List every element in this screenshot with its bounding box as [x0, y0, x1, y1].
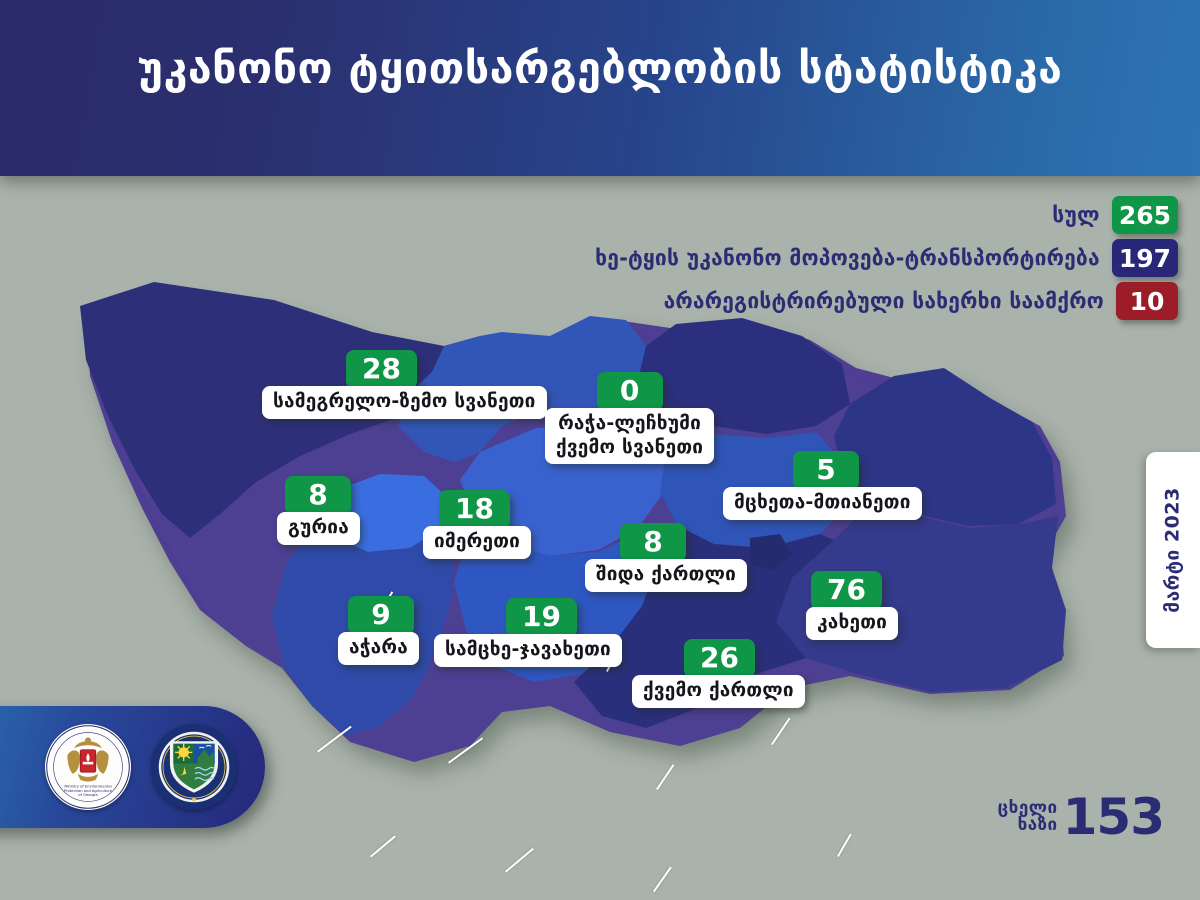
- hotline-words: ცხელი ხაზი: [998, 800, 1058, 834]
- legend-row-total: სულ 265: [595, 196, 1178, 234]
- callout-racha-lechkhumi[interactable]: 0 რაჭა-ლეჩხუმი ქვემო სვანეთი: [545, 372, 714, 464]
- infographic-root: უკანონო ტყითსარგებლობის სტატისტიკა სულ 2…: [0, 0, 1200, 900]
- legend-row-logging: ხე-ტყის უკანონო მოპოვება-ტრანსპორტირება …: [595, 239, 1178, 277]
- svg-text:Protection and Agriculture: Protection and Agriculture: [64, 789, 113, 793]
- label-samegrelo-zemo-svaneti: სამეგრელო-ზემო სვანეთი: [262, 386, 547, 418]
- legend-label-logging: ხე-ტყის უკანონო მოპოვება-ტრანსპორტირება: [595, 246, 1100, 270]
- legend-badge-total: 265: [1112, 196, 1178, 234]
- legend-badge-sawmill: 10: [1116, 282, 1178, 320]
- hotline: ცხელი ხაზი 153: [998, 794, 1164, 840]
- value-racha-lechkhumi: 0: [597, 372, 663, 411]
- callout-samtskhe-javakheti[interactable]: 19 სამცხე-ჯავახეთი: [434, 598, 622, 667]
- legend-row-sawmill: არარეგისტრირებული სახერხი საამქრო 10: [595, 282, 1178, 320]
- value-samtskhe-javakheti: 19: [506, 598, 577, 637]
- value-adjara: 9: [348, 596, 414, 635]
- label-guria: გურია: [277, 512, 360, 544]
- label-racha-lechkhumi: რაჭა-ლეჩხუმი ქვემო სვანეთი: [545, 408, 714, 463]
- department-emblem-svg: [151, 724, 237, 810]
- label-shida-kartli: შიდა ქართლი: [585, 559, 747, 591]
- header-banner: უკანონო ტყითსარგებლობის სტატისტიკა: [0, 0, 1200, 176]
- value-kvemo-kartli: 26: [684, 639, 755, 678]
- hotline-line2: ხაზი: [998, 817, 1058, 834]
- leader-line-adjara: [370, 835, 396, 857]
- date-label: მარტი 2023: [1162, 487, 1184, 612]
- department-seal-icon: [151, 724, 237, 810]
- svg-text:of Georgia: of Georgia: [78, 793, 97, 797]
- leader-line-kakheti: [837, 833, 852, 857]
- value-samegrelo-zemo-svaneti: 28: [346, 350, 417, 389]
- callout-kakheti[interactable]: 76 კახეთი: [806, 571, 898, 640]
- callout-samegrelo-zemo-svaneti[interactable]: 28 სამეგრელო-ზემო სვანეთი: [262, 350, 547, 419]
- callout-guria[interactable]: 8 გურია: [277, 476, 360, 545]
- leader-line-samtskhe: [505, 848, 534, 873]
- legend-label-total: სულ: [1052, 203, 1100, 227]
- callout-kvemo-kartli[interactable]: 26 ქვემო ქართლი: [632, 639, 805, 708]
- ministry-seal-icon: Ministry of Environmental Protection and…: [45, 724, 131, 810]
- value-imereti: 18: [439, 490, 510, 529]
- callout-imereti[interactable]: 18 იმერეთი: [423, 490, 531, 559]
- label-imereti: იმერეთი: [423, 526, 531, 558]
- ministry-emblem-svg: Ministry of Environmental Protection and…: [45, 724, 131, 810]
- date-tab: მარტი 2023: [1146, 452, 1200, 648]
- svg-text:Ministry of Environmental: Ministry of Environmental: [64, 785, 111, 789]
- hotline-number: 153: [1063, 794, 1164, 840]
- label-adjara: აჭარა: [338, 632, 419, 664]
- legend: სულ 265 ხე-ტყის უკანონო მოპოვება-ტრანსპო…: [595, 196, 1178, 325]
- callout-mtskheta-mtianeti[interactable]: 5 მცხეთა-მთიანეთი: [723, 451, 922, 520]
- label-samtskhe-javakheti: სამცხე-ჯავახეთი: [434, 634, 622, 666]
- value-shida-kartli: 8: [620, 523, 686, 562]
- page-title: უკანონო ტყითსარგებლობის სტატისტიკა: [0, 44, 1200, 94]
- legend-badge-logging: 197: [1112, 239, 1178, 277]
- label-kvemo-kartli: ქვემო ქართლი: [632, 675, 805, 707]
- value-mtskheta-mtianeti: 5: [793, 451, 859, 490]
- value-guria: 8: [285, 476, 351, 515]
- callout-shida-kartli[interactable]: 8 შიდა ქართლი: [585, 523, 747, 592]
- legend-label-sawmill: არარეგისტრირებული სახერხი საამქრო: [664, 289, 1104, 313]
- label-mtskheta-mtianeti: მცხეთა-მთიანეთი: [723, 487, 922, 519]
- label-kakheti: კახეთი: [806, 607, 898, 639]
- value-kakheti: 76: [811, 571, 882, 610]
- logo-pill: Ministry of Environmental Protection and…: [0, 706, 265, 828]
- leader-line-kvemo-kartli: [653, 866, 672, 892]
- callout-adjara[interactable]: 9 აჭარა: [338, 596, 419, 665]
